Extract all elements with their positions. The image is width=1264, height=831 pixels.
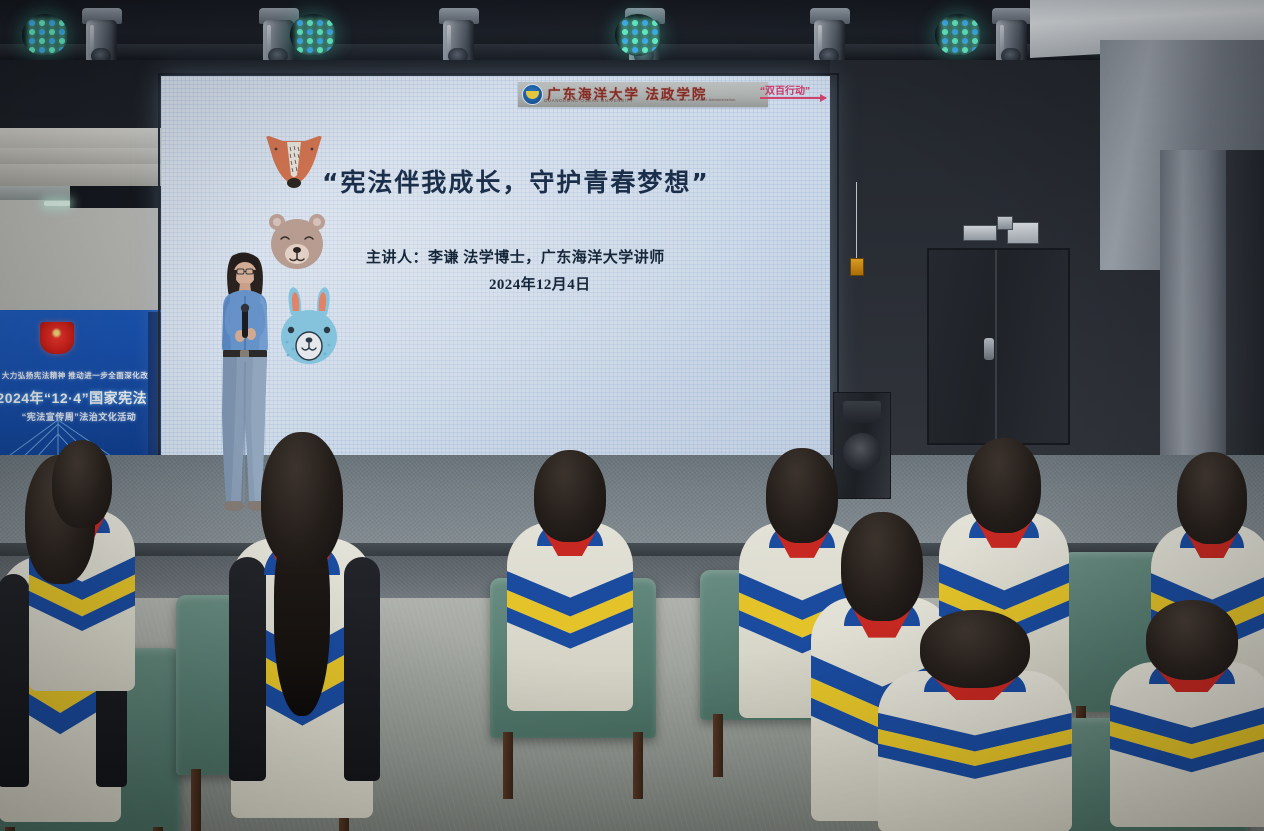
student-ponytail-girl — [232, 432, 372, 831]
led-par-light-4 — [935, 14, 981, 56]
slide-date-line: 2024年12月4日 — [489, 273, 789, 294]
hanging-pendant-lamp — [850, 258, 864, 276]
cornice-molding-2 — [0, 148, 176, 164]
student-head — [1146, 600, 1239, 680]
chair-leg — [713, 714, 723, 777]
cornice-molding-1 — [0, 128, 162, 148]
university-logo-bar: 广东海洋大学 法政学院 GUANGDONG OCEAN UNIVERSITY S… — [518, 82, 768, 107]
wall-control-panel-3 — [997, 216, 1013, 230]
university-logo-english: GUANGDONG OCEAN UNIVERSITY — [544, 98, 633, 103]
led-par-light-2 — [290, 14, 336, 56]
uniform-dark-sleeve-1 — [229, 557, 265, 781]
student-head — [1177, 452, 1247, 544]
banner-line-1: 大力弘扬宪法精神 推动进一步全面深化改革 — [0, 370, 162, 381]
speaker-horn — [843, 401, 881, 423]
door-handle[interactable] — [984, 338, 994, 360]
chair-leg — [191, 769, 201, 831]
chair-leg — [503, 732, 513, 799]
led-par-light-1 — [22, 14, 68, 56]
student-head — [920, 610, 1030, 688]
stage-platform-top — [0, 455, 1264, 547]
stage-rear-door[interactable] — [927, 248, 1070, 445]
pendant-wire — [856, 182, 857, 260]
uniform-dark-sleeve-1 — [0, 574, 29, 787]
arrow-right-icon — [760, 97, 826, 99]
uniform-dark-sleeve-2 — [344, 557, 380, 781]
student-front-right-boy — [880, 610, 1070, 831]
wall-strip-light — [44, 201, 70, 206]
student-head — [841, 512, 922, 621]
campaign-slogan: “双百行动” — [760, 82, 830, 106]
banner-line-2: 2024年“12·4”国家宪法日 — [0, 388, 162, 408]
school-logo-english: School of Law and Public Administration — [660, 98, 736, 102]
wall-control-panel-1 — [963, 225, 997, 241]
student-head — [52, 440, 112, 528]
chair-leg — [153, 827, 163, 831]
bunny-illustration-icon — [275, 285, 343, 367]
student-head — [967, 438, 1041, 533]
door-center-seam — [995, 250, 997, 440]
student-head — [766, 448, 838, 543]
slide-speaker-line: 主讲人：李谦 法学博士，广东海洋大学讲师 — [366, 246, 766, 267]
slide-title: “宪法伴我成长，守护青春梦想” — [322, 163, 752, 199]
student-head — [534, 450, 606, 542]
constitution-day-banner: 大力弘扬宪法精神 推动进一步全面深化改革 2024年“12·4”国家宪法日 “宪… — [0, 310, 162, 460]
university-crest-icon — [522, 84, 543, 105]
fox-illustration-icon — [263, 133, 325, 193]
led-par-light-3 — [615, 14, 661, 56]
cornice-molding-3 — [0, 164, 162, 186]
student-bottom-right-boy — [1112, 600, 1264, 831]
chair-leg — [633, 732, 643, 799]
student-glasses-boy — [508, 450, 632, 720]
student-head — [261, 432, 342, 568]
photo-scene: 大力弘扬宪法精神 推动进一步全面深化改革 2024年“12·4”国家宪法日 “宪… — [0, 0, 1264, 831]
national-emblem-icon — [40, 322, 74, 354]
